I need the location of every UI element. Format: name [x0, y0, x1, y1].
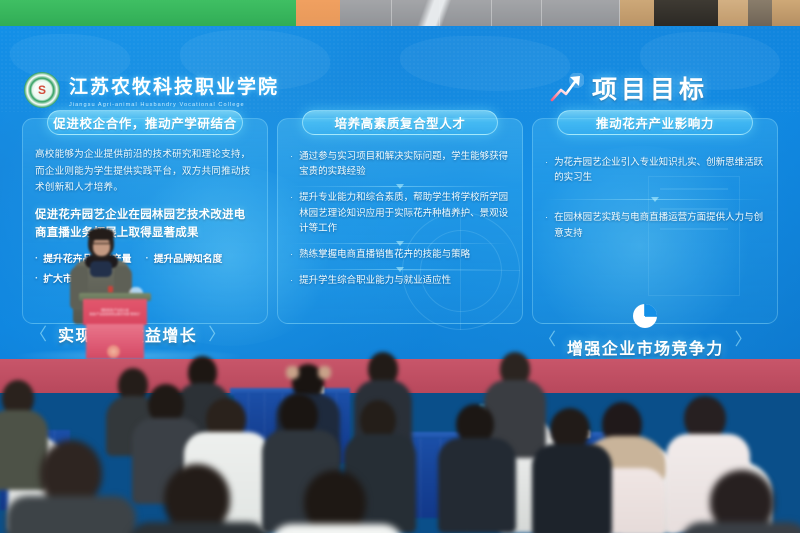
- ceiling-dark-doorway: [654, 0, 718, 26]
- audience-torso: [438, 438, 516, 533]
- podium-banner-line-2: 我县/产业链贸易安全教育专题"现场日": [89, 312, 140, 316]
- chevron-right-icon: 〉: [208, 326, 225, 343]
- pie-chart-icon: [630, 300, 660, 330]
- column-heading-text: 促进校企合作，推动产学研结合: [53, 113, 236, 132]
- bullet-glyph: ·: [290, 273, 293, 288]
- chevron-left-icon: 〈: [539, 331, 556, 348]
- list-divider: [290, 186, 510, 187]
- list-item-text: 熟练掌握电商直播销售花卉的技能与策略: [299, 247, 470, 262]
- bullet-glyph: ·: [290, 190, 293, 236]
- column-bullet-list: · 通过参与实习项目和解决实际问题，学生能够获得宝贵的实践经验 · 提升专业能力…: [290, 149, 510, 288]
- list-divider: [545, 199, 765, 200]
- bullet-glyph: ·: [35, 251, 38, 267]
- audience-torso: [128, 522, 270, 533]
- podium: 国际贸易/产业链大会 我县/产业链贸易安全教育专题"现场日": [83, 293, 147, 359]
- audience-hand: [286, 366, 299, 379]
- ceiling-wood-panel-1: [620, 0, 654, 26]
- column-heading-text: 培养高素质复合型人才: [334, 113, 465, 132]
- list-item: · 提升专业能力和综合素质，帮助学生将学校所学园林园艺理论知识应用于实际花卉种植…: [290, 190, 510, 236]
- ceiling-wood-panel-2: [718, 0, 748, 26]
- bullet-glyph: ·: [290, 149, 293, 179]
- column-heading-pill: 培养高素质复合型人才: [302, 110, 498, 135]
- list-item: · 通过参与实习项目和解决实际问题，学生能够获得宝贵的实践经验: [290, 149, 510, 179]
- page-title: 项目目标: [592, 70, 708, 106]
- list-item: · 在园林园艺实践与电商直播运营方面提供人力与创意支持: [545, 210, 765, 240]
- list-item: · 为花卉园艺企业引入专业知识扎实、创新思维活跃的实习生: [545, 155, 765, 185]
- upward-arrow-icon: [550, 73, 584, 103]
- chevron-left-icon: 〈: [30, 326, 47, 343]
- audience-torso: [270, 524, 404, 533]
- speaker-hair: [88, 228, 114, 240]
- bullet-glyph: ·: [145, 251, 148, 267]
- list-item-text: 为花卉园艺企业引入专业知识扎实、创新思维活跃的实习生: [554, 155, 765, 185]
- list-item-text: 在园林园艺实践与电商直播运营方面提供人力与创意支持: [554, 210, 765, 240]
- column-heading-text: 推动花卉产业影响力: [596, 113, 714, 132]
- bullet-glyph: ·: [290, 247, 293, 262]
- emblem-inner-glyph: S: [34, 82, 51, 99]
- bullet-glyph: ·: [35, 271, 38, 287]
- audience-torso: [6, 496, 136, 533]
- bottom-label-competitiveness: 〈 增强企业市场竞争力 〉: [539, 300, 752, 359]
- ceiling-glass-wall: [340, 0, 620, 26]
- sub-point-text: 提升品牌知名度: [154, 251, 223, 267]
- university-logo-block: S 江苏农牧科技职业学院 Jiangsu Agri-animal Husband…: [24, 72, 279, 108]
- speaker-badge: [108, 286, 113, 293]
- university-name-cn: 江苏农牧科技职业学院: [69, 72, 279, 99]
- slide-title-block: 项目目标: [550, 70, 708, 106]
- bullet-glyph: ·: [545, 155, 548, 185]
- list-item-text: 提升学生综合职业能力与就业适应性: [299, 273, 451, 288]
- list-divider: [290, 269, 510, 270]
- column-paragraph: 高校能够为企业提供前沿的技术研究和理论支持，而企业则能为学生提供实践平台，双方共…: [35, 147, 255, 197]
- podium-banner: 国际贸易/产业链大会 我县/产业链贸易安全教育专题"现场日": [83, 299, 147, 325]
- ceiling-wood-panel-3: [748, 0, 772, 26]
- university-name-en: Jiangsu Agri-animal Husbandry Vocational…: [69, 102, 279, 108]
- list-item-text: 提升专业能力和综合素质，帮助学生将学校所学园林园艺理论知识应用于实际花卉种植养护…: [299, 190, 510, 236]
- goal-column-talent: 培养高素质复合型人才 · 通过参与实习项目和解决实际问题，学生能够获得宝贵的实践…: [277, 118, 523, 324]
- speaker-scarf: [90, 261, 112, 277]
- audience-hand: [318, 366, 331, 379]
- audience-torso: [532, 444, 612, 533]
- list-item: · 熟练掌握电商直播销售花卉的技能与策略: [290, 247, 510, 262]
- column-heading-pill: 推动花卉产业影响力: [557, 110, 753, 135]
- podium-emblem-icon: [107, 345, 120, 358]
- column-bullet-list: · 为花卉园艺企业引入专业知识扎实、创新思维活跃的实习生 · 在园林园艺实践与电…: [545, 155, 765, 241]
- bullet-glyph: ·: [545, 210, 548, 240]
- ceiling-wood-panel-4: [772, 0, 800, 26]
- audience-torso: [680, 522, 800, 533]
- screenshot-root: S 江苏农牧科技职业学院 Jiangsu Agri-animal Husband…: [0, 0, 800, 533]
- goal-column-industry: 推动花卉产业影响力 · 为花卉园艺企业引入专业知识扎实、创新思维活跃的实习生 ·…: [532, 118, 778, 324]
- list-divider: [290, 243, 510, 244]
- sub-point: · 提升品牌知名度: [145, 251, 222, 267]
- chevron-right-icon: 〉: [735, 331, 752, 348]
- list-item: · 提升学生综合职业能力与就业适应性: [290, 273, 510, 288]
- list-item-text: 通过参与实习项目和解决实际问题，学生能够获得宝贵的实践经验: [299, 149, 510, 179]
- ceiling-orange-panel: [296, 0, 340, 26]
- ceiling-light-reflection: [410, 0, 456, 26]
- university-emblem-icon: S: [24, 72, 60, 108]
- speaker-glasses: [93, 243, 110, 247]
- column-heading-pill: 促进校企合作，推动产学研结合: [47, 110, 243, 135]
